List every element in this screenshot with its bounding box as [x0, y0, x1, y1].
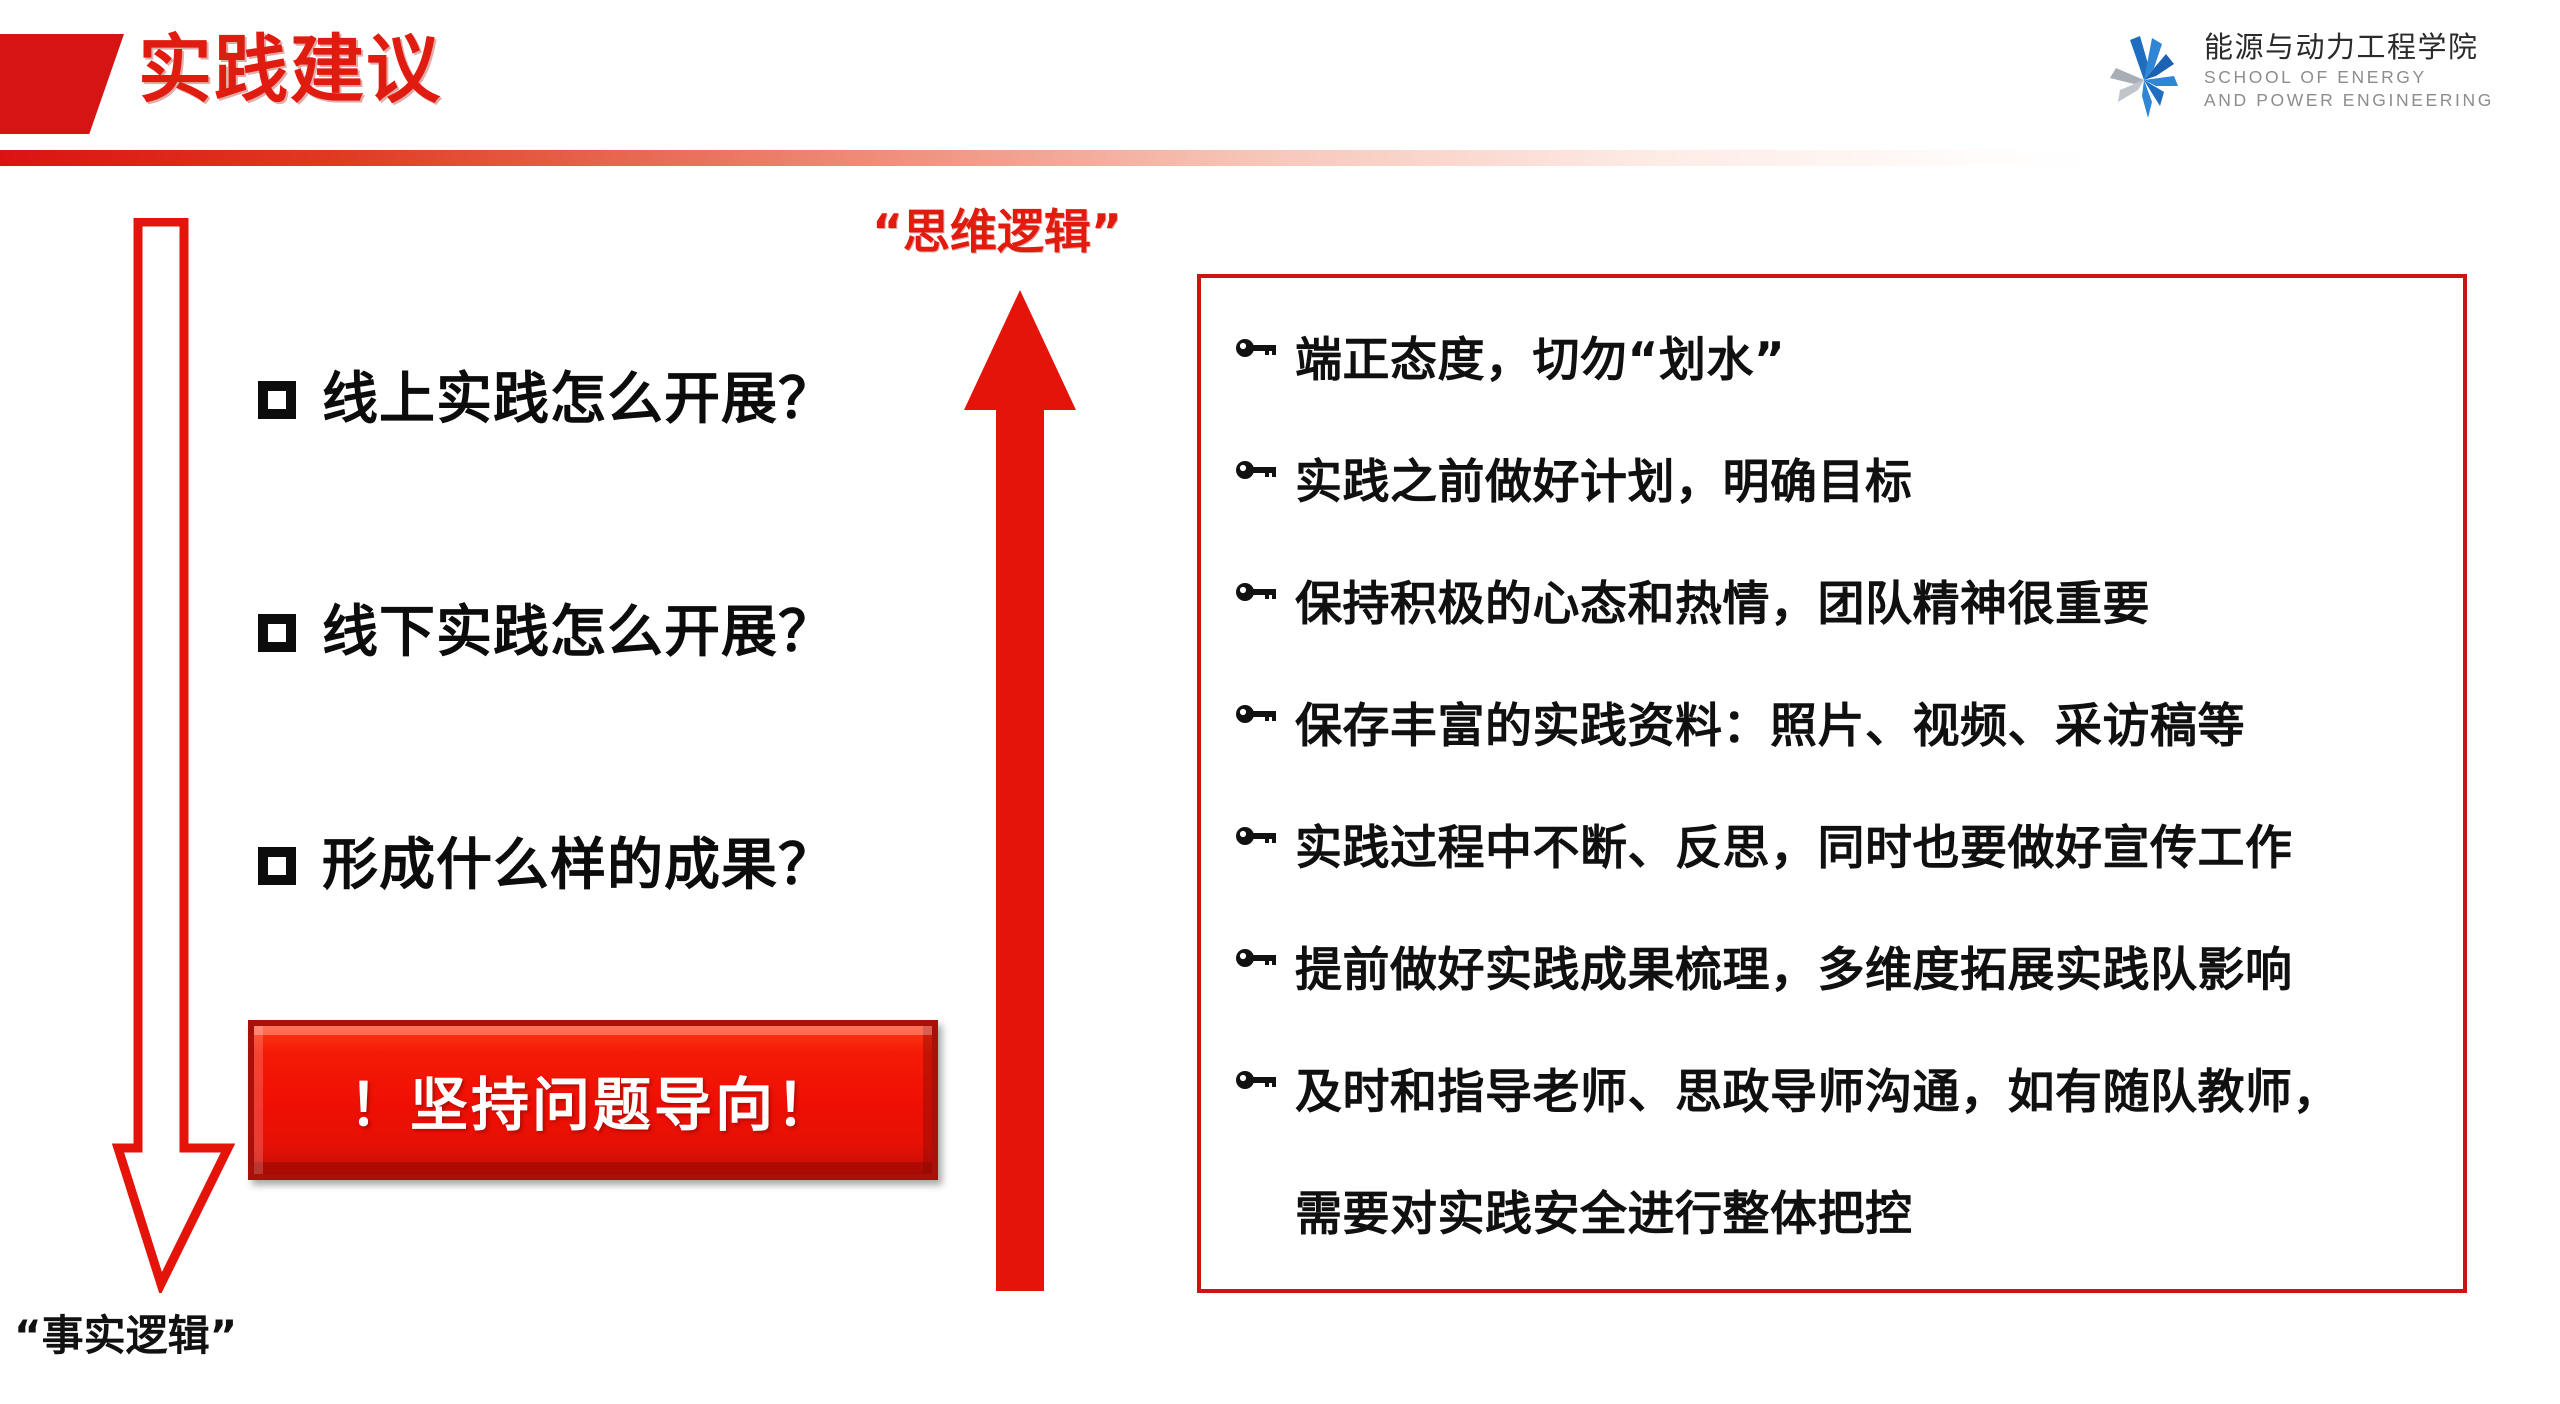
advice-item-text: 保存丰富的实践资料：照片、视频、采访稿等 — [1295, 666, 2245, 788]
advice-item: 实践之前做好计划，明确目标 — [1235, 422, 2463, 544]
thinking-logic-label: “思维逻辑” — [872, 193, 1122, 262]
key-icon — [1235, 458, 1281, 482]
advice-item-text: 端正态度，切勿“划水” — [1295, 300, 1785, 422]
school-emblem-icon — [2100, 34, 2192, 122]
focus-callout-label: ！坚持问题导向！ — [349, 1058, 837, 1142]
focus-callout-button[interactable]: ！坚持问题导向！ — [248, 1020, 938, 1180]
advice-item: 及时和指导老师、思政导师沟通，如有随队教师， 需要对实践安全进行整体把控 — [1235, 1032, 2463, 1276]
key-icon — [1235, 580, 1281, 604]
advice-item: 实践过程中不断、反思，同时也要做好宣传工作 — [1235, 788, 2463, 910]
question-item-1-text: 线上实践怎么开展？ — [322, 370, 835, 430]
question-item-3: 形成什么样的成果？ — [258, 836, 835, 896]
square-bullet-icon — [258, 847, 296, 885]
fact-logic-label: “事实逻辑” — [14, 1302, 237, 1363]
question-item-2-text: 线下实践怎么开展？ — [322, 603, 835, 663]
advice-item: 保存丰富的实践资料：照片、视频、采访稿等 — [1235, 666, 2463, 788]
advice-item-text: 实践之前做好计划，明确目标 — [1295, 422, 1913, 544]
school-name-cn: 能源与动力工程学院 — [2204, 28, 2524, 66]
advice-list-box: 端正态度，切勿“划水” 实践之前做好计划，明确目标 保持积极的心态和热情，团队精… — [1197, 274, 2467, 1293]
header-gradient-rule — [0, 150, 2100, 166]
question-item-2: 线下实践怎么开展？ — [258, 603, 835, 663]
question-item-3-text: 形成什么样的成果？ — [322, 836, 835, 896]
advice-item-text: 提前做好实践成果梳理，多维度拓展实践队影响 — [1295, 910, 2293, 1032]
advice-item: 端正态度，切勿“划水” — [1235, 300, 2463, 422]
page-title: 实践建议 — [138, 20, 442, 120]
school-name-en-line1: SCHOOL OF ENERGY — [2204, 66, 2524, 89]
school-logo: 能源与动力工程学院 SCHOOL OF ENERGY AND POWER ENG… — [2100, 28, 2530, 128]
school-logo-text: 能源与动力工程学院 SCHOOL OF ENERGY AND POWER ENG… — [2204, 28, 2524, 112]
school-name-en-line2: AND POWER ENGINEERING — [2204, 89, 2524, 112]
square-bullet-icon — [258, 614, 296, 652]
key-icon — [1235, 824, 1281, 848]
advice-item-text: 保持积极的心态和热情，团队精神很重要 — [1295, 544, 2150, 666]
advice-item-text: 实践过程中不断、反思，同时也要做好宣传工作 — [1295, 788, 2293, 910]
advice-item-text: 及时和指导老师、思政导师沟通，如有随队教师， 需要对实践安全进行整体把控 — [1295, 1032, 2340, 1276]
question-item-1: 线上实践怎么开展？ — [258, 370, 835, 430]
advice-item: 保持积极的心态和热情，团队精神很重要 — [1235, 544, 2463, 666]
key-icon — [1235, 336, 1281, 360]
thinking-logic-up-arrow-icon — [960, 288, 1080, 1293]
advice-item: 提前做好实践成果梳理，多维度拓展实践队影响 — [1235, 910, 2463, 1032]
key-icon — [1235, 1068, 1281, 1092]
key-icon — [1235, 702, 1281, 726]
title-flag-shape — [0, 34, 124, 134]
key-icon — [1235, 946, 1281, 970]
square-bullet-icon — [258, 381, 296, 419]
fact-logic-down-arrow-icon — [110, 218, 240, 1293]
